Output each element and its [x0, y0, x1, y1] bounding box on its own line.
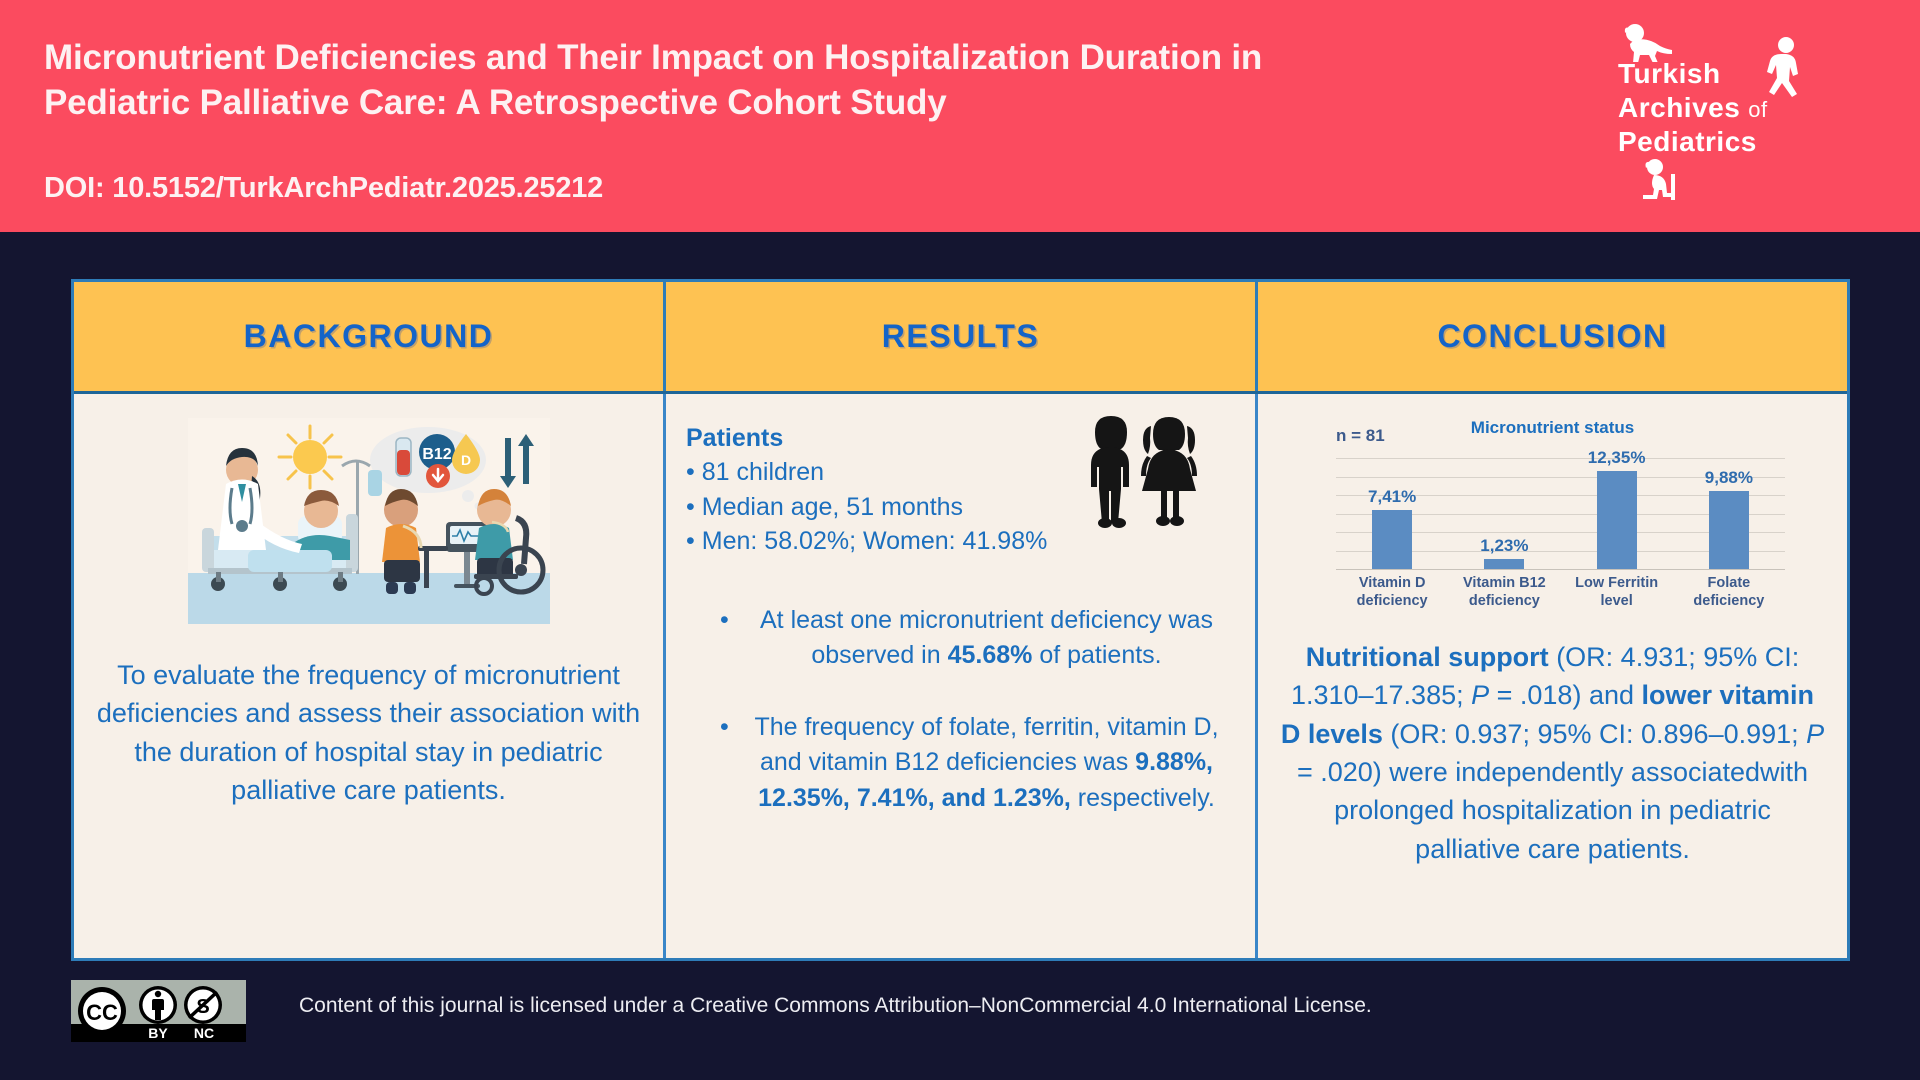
poster-root: Micronutrient Deficiencies and Their Imp…: [0, 0, 1920, 1080]
chart-bar-value-label: 12,35%: [1588, 448, 1646, 468]
chart-x-tick-line: Folate: [1673, 574, 1785, 592]
logo-line-2: Archivesof: [1618, 94, 1768, 122]
doi-text: DOI: 10.5152/TurkArchPediatr.2025.25212: [44, 172, 603, 205]
chart-bar-column: 9,88%: [1673, 458, 1785, 569]
chart-bar-column: 12,35%: [1561, 458, 1673, 569]
chart-bar-column: 7,41%: [1336, 458, 1448, 569]
conclusion-text-part-7: = .020) were independently associatedwit…: [1297, 757, 1808, 864]
bullet-2-post: respectively.: [1071, 784, 1215, 812]
content-table: BACKGROUND RESULTS CONCLUSION: [71, 279, 1850, 961]
results-bullet-list: At least one micronutrient deficiency wa…: [720, 603, 1223, 817]
pediatric-palliative-care-illustration: B12 D: [188, 418, 550, 624]
chart-bars: 7,41%1,23%12,35%9,88%: [1336, 458, 1785, 569]
svg-text:BY: BY: [148, 1025, 168, 1041]
chart-bar: [1372, 510, 1412, 569]
license-text: Content of this journal is licensed unde…: [299, 994, 1372, 1018]
cell-results: Patients 81 children Median age, 51 mont…: [663, 394, 1255, 958]
chart-x-tick-line: Vitamin D: [1336, 574, 1448, 592]
logo-archives-word: Archives: [1618, 92, 1740, 123]
chart-x-tick-line: Low Ferritin: [1561, 574, 1673, 592]
logo-of-word: of: [1748, 97, 1767, 122]
column-header-background: BACKGROUND: [74, 282, 663, 391]
chart-x-tick: Folatedeficiency: [1673, 574, 1785, 610]
bullet-1-post: of patients.: [1032, 641, 1161, 669]
column-header-conclusion: CONCLUSION: [1255, 282, 1847, 391]
chart-x-tick-line: deficiency: [1448, 592, 1560, 610]
chart-bar-value-label: 1,23%: [1480, 536, 1528, 556]
bullet-1-bold: 45.68%: [948, 641, 1033, 669]
chart-x-tick-labels: Vitamin DdeficiencyVitamin B12deficiency…: [1336, 574, 1785, 610]
logo-line-3: Pediatrics: [1618, 128, 1757, 156]
cell-background: B12 D: [74, 394, 663, 958]
walking-child-icon: [1762, 36, 1810, 98]
chart-plot-area: 7,41%1,23%12,35%9,88%: [1336, 458, 1785, 570]
micronutrient-status-chart: n = 81 Micronutrient status 7,41%1,23%12…: [1274, 416, 1831, 616]
svg-text:NC: NC: [194, 1025, 214, 1041]
chart-x-tick-line: deficiency: [1336, 592, 1448, 610]
conclusion-text-part-5: (OR: 0.937; 95% CI: 0.896–0.991;: [1383, 719, 1806, 749]
chart-title: Micronutrient status: [1274, 418, 1831, 438]
page-title: Micronutrient Deficiencies and Their Imp…: [44, 36, 1364, 126]
conclusion-text-part-6: P: [1806, 719, 1824, 749]
table-body-row: B12 D: [74, 394, 1847, 958]
creative-commons-by-nc-badge: CC S BY NC: [71, 980, 246, 1042]
svg-text:D: D: [460, 452, 470, 468]
list-item: The frequency of folate, ferritin, vitam…: [720, 710, 1223, 817]
chart-x-tick: Vitamin Ddeficiency: [1336, 574, 1448, 610]
cell-conclusion: n = 81 Micronutrient status 7,41%1,23%12…: [1255, 394, 1847, 958]
journal-logo: Turkish Archivesof Pediatrics: [1614, 22, 1872, 204]
chart-bar: [1597, 471, 1637, 569]
logo-line-1: Turkish: [1618, 60, 1721, 88]
list-item: At least one micronutrient deficiency wa…: [720, 603, 1223, 674]
background-body-text: To evaluate the frequency of micronutrie…: [90, 656, 647, 809]
chart-x-tick: Vitamin B12deficiency: [1448, 574, 1560, 610]
chart-x-tick-line: Vitamin B12: [1448, 574, 1560, 592]
chart-axis-line: [1336, 569, 1785, 570]
chart-bar: [1484, 559, 1524, 569]
chart-x-tick-line: level: [1561, 592, 1673, 610]
chart-bar: [1709, 491, 1749, 569]
column-header-results: RESULTS: [663, 282, 1255, 391]
crawling-baby-icon: [1620, 22, 1678, 62]
chart-bar-value-label: 9,88%: [1705, 468, 1753, 488]
svg-text:CC: CC: [86, 1000, 118, 1025]
svg-text:B12: B12: [422, 446, 451, 463]
table-header-row: BACKGROUND RESULTS CONCLUSION: [74, 282, 1847, 394]
conclusion-text-part-0: Nutritional support: [1306, 642, 1549, 672]
conclusion-text-part-2: P: [1471, 680, 1489, 710]
chart-bar-value-label: 7,41%: [1368, 487, 1416, 507]
chart-bar-column: 1,23%: [1448, 458, 1560, 569]
header-banner: Micronutrient Deficiencies and Their Imp…: [0, 0, 1920, 232]
sitting-child-icon: [1638, 158, 1684, 202]
conclusion-text-part-3: = .018) and: [1489, 680, 1641, 710]
chart-x-tick: Low Ferritinlevel: [1561, 574, 1673, 610]
footer: CC S BY NC Content of this journal is li…: [71, 980, 1851, 1042]
conclusion-body-text: Nutritional support (OR: 4.931; 95% CI: …: [1274, 638, 1831, 868]
chart-x-tick-line: deficiency: [1673, 592, 1785, 610]
boy-girl-silhouette: [1081, 410, 1203, 530]
